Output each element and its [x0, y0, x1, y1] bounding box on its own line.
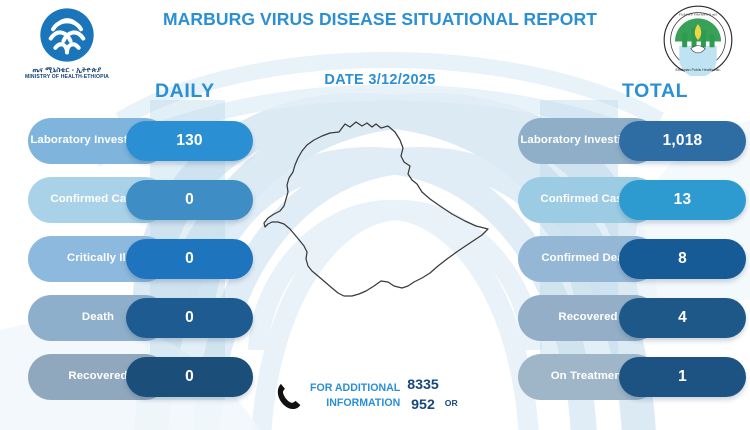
- total-column-header: TOTAL: [622, 80, 688, 103]
- total-row-1-value: 13: [619, 180, 746, 220]
- daily-row-2-value: 0: [126, 239, 253, 279]
- total-row-4-value: 1: [619, 357, 746, 397]
- total-row-2-value: 8: [619, 239, 746, 279]
- stat-row: Death 0: [28, 295, 253, 341]
- stat-row: Laboratory Investigation 1,018: [518, 118, 746, 164]
- moh-logo: ጤና ሚኒስቴር - ኢትዮጵያ MINISTRY OF HEALTH-ETHI…: [18, 6, 116, 80]
- total-row-0-value: 1,018: [619, 121, 746, 161]
- contact-footer: FOR ADDITIONAL INFORMATION 8335 952 OR: [276, 370, 516, 422]
- ministry-of-health-ethiopia-logo-icon: [38, 6, 96, 64]
- contact-info-text: FOR ADDITIONAL INFORMATION: [310, 381, 400, 412]
- stat-row: Confirmed Cases 13: [518, 177, 746, 223]
- contact-numbers: 8335 952: [407, 376, 439, 415]
- phone-icon: [276, 381, 302, 411]
- stat-row: Critically Ill 0: [28, 236, 253, 282]
- contact-number-1: 8335: [407, 377, 439, 393]
- daily-row-0-value: 130: [126, 121, 253, 161]
- ethiopian-public-health-institute-seal-icon: የኢትዮጵያ የሕብረተሰብ ጤና Ethiopian Public Healt…: [662, 4, 734, 76]
- contact-separator: OR: [445, 398, 458, 408]
- moh-logo-english: MINISTRY OF HEALTH-ETHIOPIA: [18, 74, 116, 80]
- contact-line-1: FOR ADDITIONAL: [310, 382, 400, 394]
- daily-row-1-value: 0: [126, 180, 253, 220]
- daily-column-header: DAILY: [155, 80, 215, 103]
- stat-row: Confirmed Cases 0: [28, 177, 253, 223]
- daily-row-4-value: 0: [126, 357, 253, 397]
- daily-row-3-value: 0: [126, 298, 253, 338]
- ethiopia-map-outline: [262, 96, 520, 364]
- contact-line-2: INFORMATION: [326, 397, 400, 409]
- total-stats-column: Laboratory Investigation 1,018 Confirmed…: [518, 118, 746, 413]
- stat-row: On Treatment 1: [518, 354, 746, 400]
- report-date: DATE 3/12/2025: [245, 72, 515, 88]
- svg-text:የኢትዮጵያ የሕብረተሰብ ጤና: የኢትዮጵያ የሕብረተሰብ ጤና: [679, 13, 717, 17]
- infographic-canvas: ጤና ሚኒስቴር - ኢትዮጵያ MINISTRY OF HEALTH-ETHI…: [0, 0, 750, 430]
- daily-stats-column: Laboratory Investigation 130 Confirmed C…: [28, 118, 253, 413]
- total-row-3-value: 4: [619, 298, 746, 338]
- contact-number-2: 952: [407, 396, 439, 416]
- stat-row: Recovered 4: [518, 295, 746, 341]
- moh-logo-amharic: ጤና ሚኒስቴር - ኢትዮጵያ: [18, 66, 116, 74]
- page-title: MARBURG VIRUS DISEASE SITUATIONAL REPORT: [160, 8, 600, 31]
- header: ጤና ሚኒስቴር - ኢትዮጵያ MINISTRY OF HEALTH-ETHI…: [0, 0, 750, 105]
- stat-row: Laboratory Investigation 130: [28, 118, 253, 164]
- stat-row: Confirmed Death 8: [518, 236, 746, 282]
- svg-text:Ethiopian Public Health Inst.: Ethiopian Public Health Inst.: [676, 68, 721, 72]
- stat-row: Recovered 0: [28, 354, 253, 400]
